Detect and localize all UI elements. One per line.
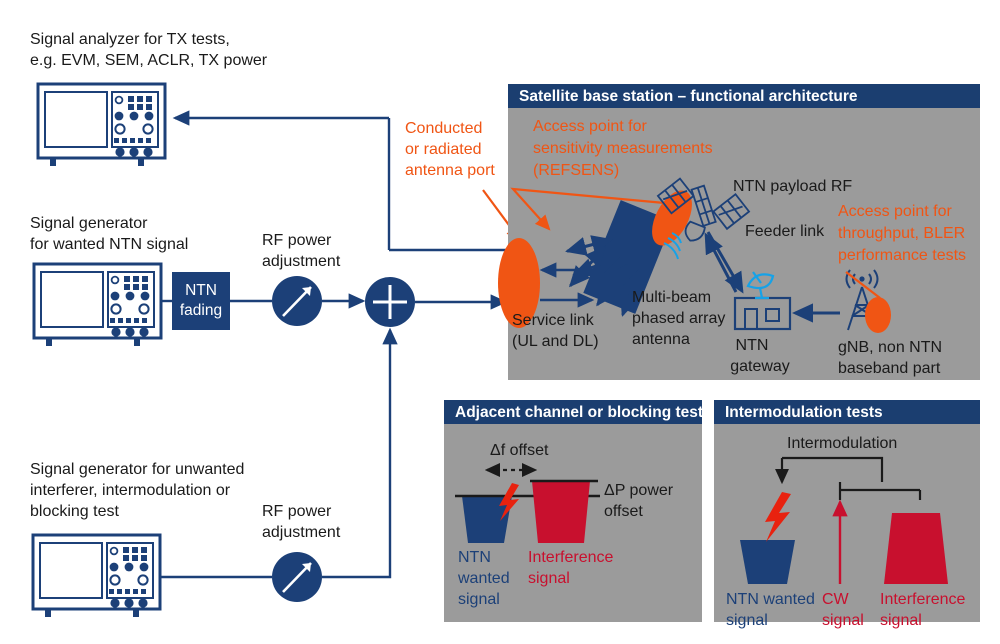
- throughput-line3: performance tests: [838, 247, 966, 264]
- intermod-wanted-spectrum-icon: [740, 540, 795, 584]
- gateway-label-line2: gateway: [730, 358, 790, 375]
- antenna-port-line3: antenna port: [405, 162, 495, 179]
- refsens-line3: (REFSENS): [533, 162, 619, 179]
- throughput-line1: Access point for: [838, 203, 953, 220]
- analyzer-label-line1: Signal analyzer for TX tests,: [30, 31, 230, 48]
- ntn-fading-block: NTN fading: [172, 272, 230, 330]
- generator-wanted-label-line2: for wanted NTN signal: [30, 236, 188, 253]
- attenuator-top-icon: [272, 276, 322, 326]
- intermod-interference-spectrum-icon: [884, 513, 948, 584]
- antenna-port-line2: or radiated: [405, 141, 482, 158]
- intermod-wanted-line2: signal: [726, 612, 768, 629]
- gateway-label-line1: NTN: [736, 337, 769, 354]
- attenuator-bottom-icon: [272, 552, 322, 602]
- analyzer-return-path: [175, 118, 510, 250]
- satellite-panel-header: Satellite base station – functional arch…: [519, 88, 858, 105]
- rf-power-bottom-line2: adjustment: [262, 524, 341, 541]
- signal-generator-wanted-icon: [34, 264, 161, 346]
- summing-junction-icon: [365, 277, 415, 327]
- adjacent-interference-line2: signal: [528, 570, 570, 587]
- generator-wanted-label-line1: Signal generator: [30, 215, 148, 232]
- signal-generator-unwanted-icon: [33, 535, 160, 617]
- ntn-fading-line1: NTN: [185, 282, 217, 299]
- generator-unwanted-label-line3: blocking test: [30, 503, 119, 520]
- diagram-root: Signal analyzer for TX tests, e.g. EVM, …: [0, 0, 1000, 644]
- diagram-canvas: Signal analyzer for TX tests, e.g. EVM, …: [0, 0, 1000, 644]
- delta-p-line2: offset: [604, 503, 643, 520]
- rf-power-top-line1: RF power: [262, 232, 332, 249]
- array-label-line2: phased array: [632, 310, 725, 327]
- feeder-link-label: Feeder link: [745, 223, 825, 240]
- intermodulation-panel-header: Intermodulation tests: [725, 404, 883, 421]
- adjacent-wanted-line3: signal: [458, 591, 500, 608]
- generator-unwanted-label-line1: Signal generator for unwanted: [30, 461, 244, 478]
- intermodulation-panel: Intermodulation tests: [714, 400, 980, 622]
- access-port-gnb-icon: [865, 297, 891, 333]
- gnb-label-line2: baseband part: [838, 360, 941, 377]
- intermod-wanted-line1: NTN wanted: [726, 591, 815, 608]
- delta-p-line1: ΔP power: [604, 482, 674, 499]
- antenna-port-line1: Conducted: [405, 120, 482, 137]
- signal-analyzer-icon: [38, 84, 165, 166]
- adjacent-wanted-line1: NTN: [458, 549, 491, 566]
- service-link-label-line1: Service link: [512, 312, 595, 329]
- ntn-fading-line2: fading: [180, 302, 222, 319]
- cw-line2: signal: [822, 612, 864, 629]
- array-label-line1: Multi-beam: [632, 289, 711, 306]
- throughput-line2: throughput, BLER: [838, 225, 965, 242]
- adjacent-wanted-line2: wanted: [457, 570, 510, 587]
- refsens-line2: sensitivity measurements: [533, 140, 713, 157]
- service-link-label-line2: (UL and DL): [512, 333, 599, 350]
- gnb-label-line1: gNB, non NTN: [838, 339, 942, 356]
- intermod-interference-line2: signal: [880, 612, 922, 629]
- array-label-line3: antenna: [632, 331, 690, 348]
- adjacent-interference-line1: Interference: [528, 549, 613, 566]
- adjacent-panel-header: Adjacent channel or blocking tests: [455, 404, 712, 421]
- delta-f-label: Δf offset: [490, 442, 549, 459]
- rf-power-top-line2: adjustment: [262, 253, 341, 270]
- ntn-payload-label: NTN payload RF: [733, 178, 852, 195]
- analyzer-label-line2: e.g. EVM, SEM, ACLR, TX power: [30, 52, 268, 69]
- cw-line1: CW: [822, 591, 850, 608]
- generator-unwanted-label-line2: interferer, intermodulation or: [30, 482, 231, 499]
- intermod-interference-line1: Interference: [880, 591, 965, 608]
- refsens-line1: Access point for: [533, 118, 648, 135]
- intermodulation-label: Intermodulation: [787, 435, 897, 452]
- rf-power-bottom-line1: RF power: [262, 503, 332, 520]
- adjacent-interference-spectrum-icon: [532, 481, 590, 543]
